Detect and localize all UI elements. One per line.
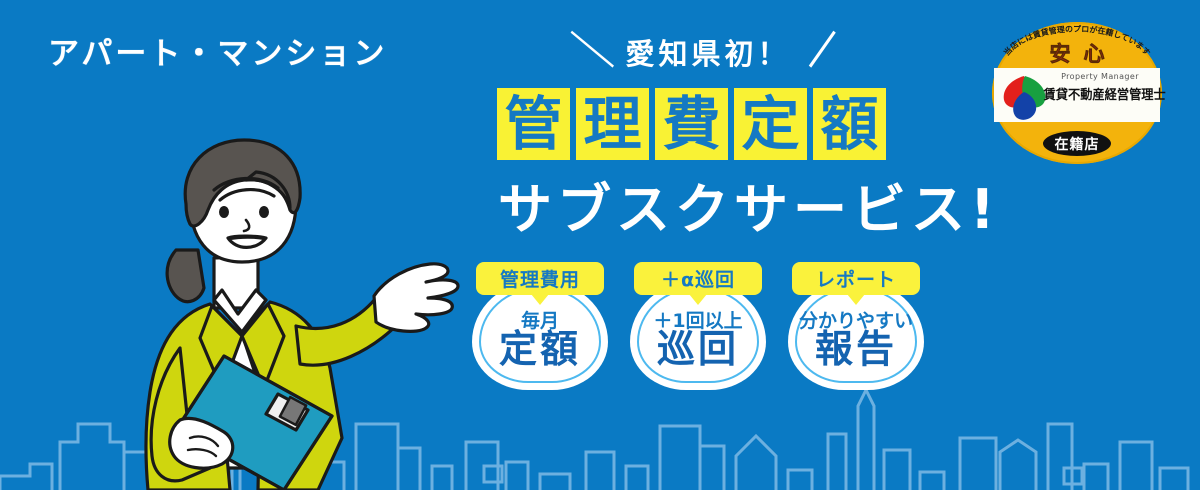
badge-label: レポート — [792, 262, 920, 295]
badge-big-text: 定額 — [470, 330, 610, 370]
headline-boxed-kanji: 管 理 費 定 額 — [497, 88, 886, 160]
aichi-first-line: ＼ 愛知県初！ ／ — [498, 28, 918, 76]
businesswoman-illustration — [118, 138, 468, 490]
certification-seal: 当店には賃貸管理のプロが在籍しています 安心 Property Manager … — [992, 22, 1162, 164]
headline-box-2: 理 — [576, 88, 649, 160]
feature-badge-report: レポート 分かりやすい 報告 — [786, 262, 926, 390]
badge-label: ＋α巡回 — [634, 262, 762, 295]
feature-badge-management-fee: 管理費用 毎月 定額 — [470, 262, 610, 390]
headline-box-5: 額 — [813, 88, 886, 160]
property-manager-logo-icon — [998, 70, 1050, 122]
seal-anshin-text: 安心 — [992, 38, 1162, 68]
seal-english-title: Property Manager — [1044, 72, 1156, 81]
seal-japanese-title: 賃貸不動産経営管理士 — [1044, 84, 1155, 103]
slash-right-icon: ／ — [800, 33, 845, 71]
slash-left-icon: ＼ — [571, 33, 616, 71]
badge-big-text: 報告 — [786, 330, 926, 370]
feature-badge-patrol: ＋α巡回 ＋1回以上 巡回 — [628, 262, 768, 390]
feature-badge-group: 管理費用 毎月 定額 ＋α巡回 ＋1回以上 巡回 レポート 分かりやすい 報告 — [470, 262, 926, 390]
badge-label: 管理費用 — [476, 262, 604, 295]
subheadline-text: サブスクサービス! — [498, 180, 1000, 239]
badge-big-text: 巡回 — [628, 330, 768, 370]
promo-banner: アパート・マンション ＼ 愛知県初！ ／ 管 理 費 定 額 サブスクサービス!… — [0, 0, 1200, 490]
headline-box-3: 費 — [655, 88, 728, 160]
aichi-first-text: 愛知県初！ — [625, 31, 790, 73]
headline-box-1: 管 — [497, 88, 570, 160]
seal-footer-badge: 在籍店 — [1043, 131, 1111, 156]
headline-box-4: 定 — [734, 88, 807, 160]
kicker-text: アパート・マンション — [48, 28, 387, 73]
